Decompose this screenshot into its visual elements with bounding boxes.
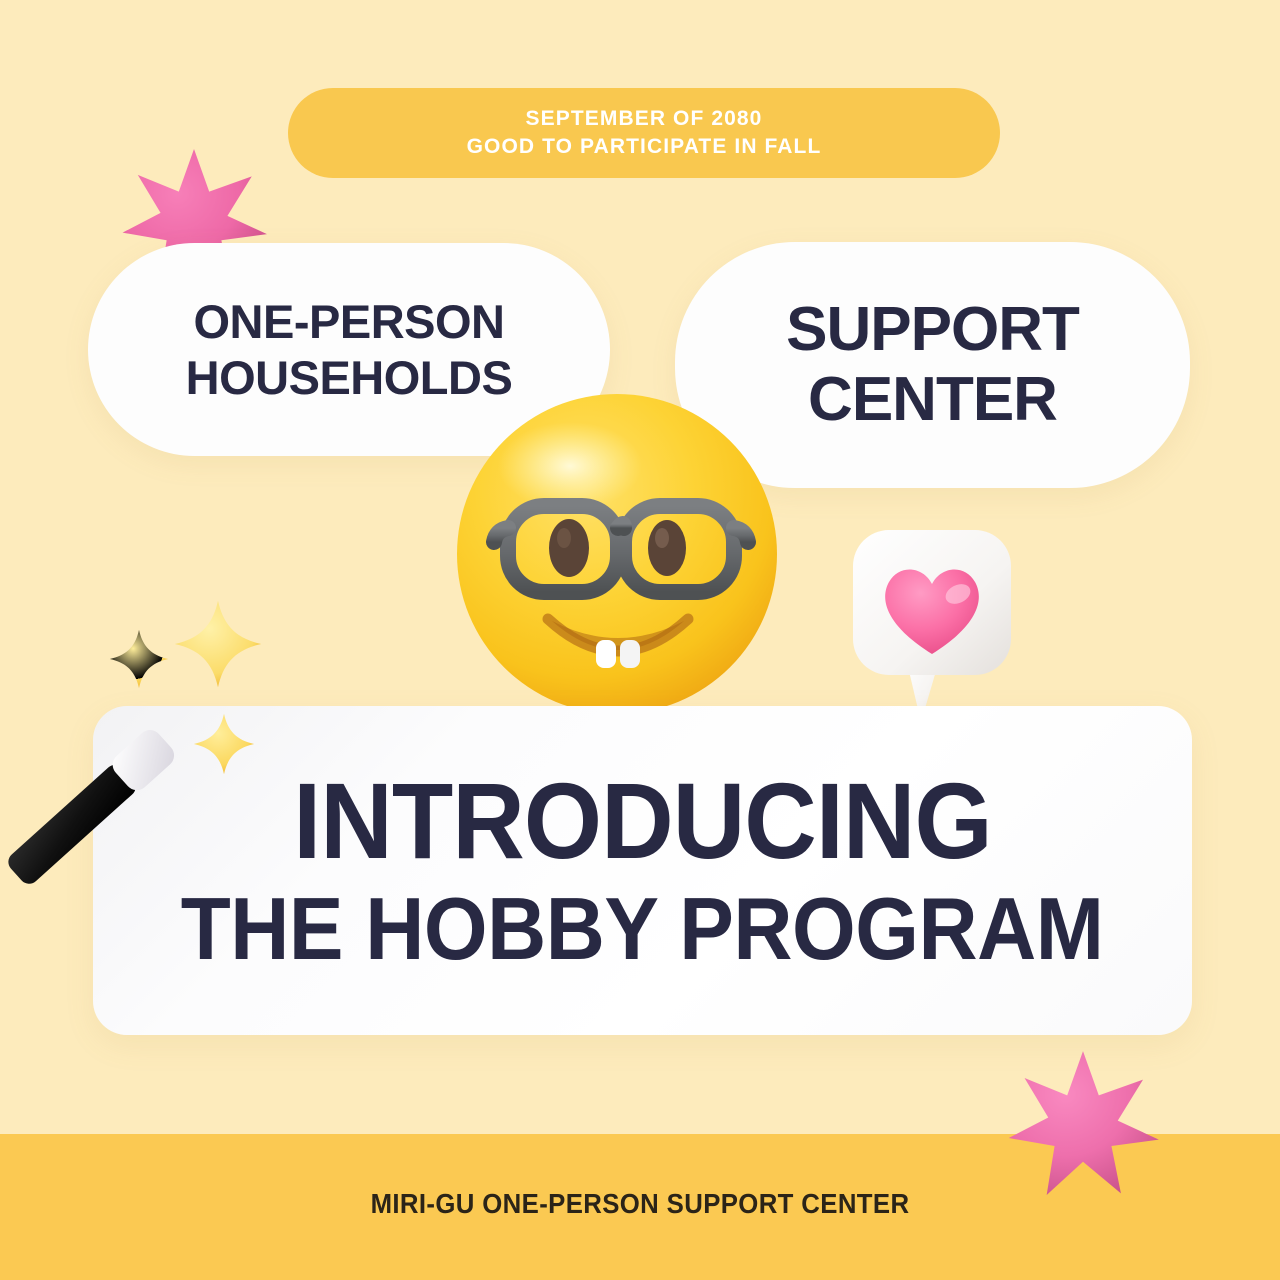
sparkle-star-icon [192, 712, 256, 776]
headline-line2: THE HOBBY PROGRAM [181, 881, 1104, 977]
nerd-face-emoji [452, 388, 782, 718]
sparkle-star-icon [108, 628, 170, 690]
magic-wand-icon [0, 690, 210, 920]
date-banner-line2: GOOD TO PARTICIPATE IN FALL [467, 134, 822, 160]
pink-star-icon [1004, 1048, 1162, 1206]
label-right-line2: CENTER [808, 365, 1057, 435]
sparkle-star-icon [172, 598, 264, 690]
heart-speech-bubble-icon [845, 522, 1025, 727]
date-banner: SEPTEMBER OF 2080 GOOD TO PARTICIPATE IN… [288, 88, 1000, 178]
poster-canvas: SEPTEMBER OF 2080 GOOD TO PARTICIPATE IN… [0, 0, 1280, 1280]
label-right-line1: SUPPORT [786, 295, 1079, 365]
label-left-line1: ONE-PERSON [194, 294, 505, 350]
headline-line1: INTRODUCING [293, 765, 991, 877]
date-banner-line1: SEPTEMBER OF 2080 [526, 106, 763, 132]
headline-card: INTRODUCING THE HOBBY PROGRAM [93, 706, 1192, 1035]
footer-organization-text: MIRI-GU ONE-PERSON SUPPORT CENTER [51, 1188, 1229, 1220]
